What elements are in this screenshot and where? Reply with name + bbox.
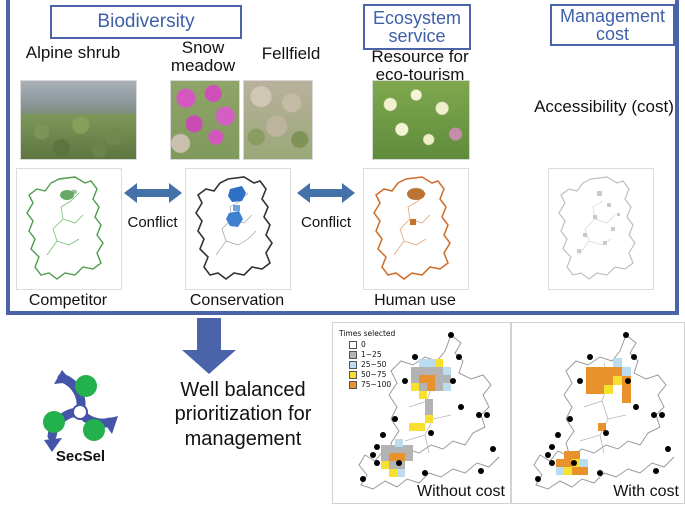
legend-row: 75~100 bbox=[349, 380, 417, 389]
caption-fellfield: Fellfield bbox=[250, 45, 332, 63]
photo-sky-region bbox=[21, 81, 136, 117]
map-inner-lines-cost bbox=[579, 201, 615, 255]
map-cost-svg bbox=[549, 169, 653, 289]
region-outline-with-cost bbox=[534, 335, 674, 489]
legend-label-4: 75~100 bbox=[361, 380, 391, 389]
map-conservation-svg bbox=[186, 169, 290, 289]
legend-row: 0 bbox=[349, 340, 417, 349]
header-label-management-cost: Management cost bbox=[552, 7, 673, 44]
map-patch-conservation-mid bbox=[226, 211, 243, 227]
header-box-ecosystem-service: Ecosystem service bbox=[363, 4, 471, 50]
survey-points-with-cost bbox=[535, 332, 671, 482]
legend-swatch-3 bbox=[349, 371, 357, 379]
result-map-with-cost bbox=[512, 323, 684, 503]
secsel-dot-top bbox=[75, 375, 97, 397]
map-label-human-use: Human use bbox=[355, 292, 475, 310]
double-arrow-icon bbox=[124, 180, 182, 206]
photo-meadow-region bbox=[171, 81, 239, 159]
secsel-center-hub bbox=[73, 405, 87, 419]
legend-label-3: 50~75 bbox=[361, 370, 386, 379]
map-card-conservation bbox=[185, 168, 291, 290]
caption-snow-meadow: Snow meadow bbox=[160, 39, 246, 75]
header-box-biodiversity: Biodiversity bbox=[50, 5, 242, 39]
outcome-statement: Well balanced prioritization for managem… bbox=[148, 378, 338, 451]
secsel-dot-right bbox=[83, 419, 105, 441]
double-arrow-icon bbox=[297, 180, 355, 206]
conflict-label-right: Conflict bbox=[291, 214, 361, 231]
map-competitor-svg bbox=[17, 169, 121, 289]
legend-title: Times selected bbox=[339, 329, 417, 338]
legend-row: 1~25 bbox=[349, 350, 417, 359]
photo-alpine-shrub bbox=[20, 80, 137, 160]
map-inner-lines-competitor bbox=[47, 193, 83, 255]
result-panel-with-cost: With cost bbox=[511, 322, 685, 504]
map-label-conservation: Conservation bbox=[170, 292, 304, 310]
legend-swatch-1 bbox=[349, 351, 357, 359]
caption-alpine-shrub: Alpine shrub bbox=[10, 44, 136, 62]
photo-eco-tourism bbox=[372, 80, 470, 160]
map-card-accessibility-cost bbox=[548, 168, 654, 290]
header-label-ecosystem-service: Ecosystem service bbox=[365, 9, 469, 46]
header-box-management-cost: Management cost bbox=[550, 4, 675, 46]
legend-times-selected: Times selected 0 1~25 25~50 50~75 75~100 bbox=[339, 329, 417, 390]
legend-row: 25~50 bbox=[349, 360, 417, 369]
panel-label-with-cost: With cost bbox=[613, 483, 679, 501]
map-patch-conservation-small bbox=[233, 205, 240, 211]
conflict-label-left: Conflict bbox=[120, 214, 185, 231]
map-cost-cells bbox=[577, 191, 620, 253]
photo-fellfield-region bbox=[244, 81, 312, 159]
down-arrow-icon bbox=[178, 318, 240, 374]
caption-accessibility-cost: Accessibility (cost) bbox=[528, 98, 680, 116]
legend-label-2: 25~50 bbox=[361, 360, 386, 369]
panel-label-without-cost: Without cost bbox=[417, 483, 505, 501]
photo-fellfield bbox=[243, 80, 313, 160]
legend-swatch-2 bbox=[349, 361, 357, 369]
legend-swatch-4 bbox=[349, 381, 357, 389]
map-card-human-use bbox=[363, 168, 469, 290]
header-label-biodiversity: Biodiversity bbox=[97, 12, 194, 31]
map-human-use-svg bbox=[364, 169, 468, 289]
secsel-dot-left bbox=[43, 411, 65, 433]
legend-swatch-0 bbox=[349, 341, 357, 349]
legend-label-0: 0 bbox=[361, 340, 366, 349]
map-hotspot-human-use-small bbox=[410, 219, 416, 225]
caption-resource-for-eco-tourism: Resource for eco-tourism bbox=[355, 48, 485, 84]
map-patch-conservation-north bbox=[228, 186, 246, 202]
result-panel-without-cost: Times selected 0 1~25 25~50 50~75 75~100… bbox=[332, 322, 511, 504]
map-hotspot-competitor-small bbox=[71, 190, 77, 195]
secsel-wordmark: SecSel bbox=[28, 448, 133, 465]
photo-snow-meadow bbox=[170, 80, 240, 160]
photo-shrub-region bbox=[21, 114, 136, 159]
photo-eco-region bbox=[373, 81, 469, 159]
map-card-competitor bbox=[16, 168, 122, 290]
map-label-competitor: Competitor bbox=[16, 292, 120, 310]
map-hotspot-human-use bbox=[407, 188, 425, 200]
legend-label-1: 1~25 bbox=[361, 350, 382, 359]
conflict-group-right: Conflict bbox=[291, 180, 361, 231]
conflict-group-left: Conflict bbox=[120, 180, 185, 231]
legend-row: 50~75 bbox=[349, 370, 417, 379]
